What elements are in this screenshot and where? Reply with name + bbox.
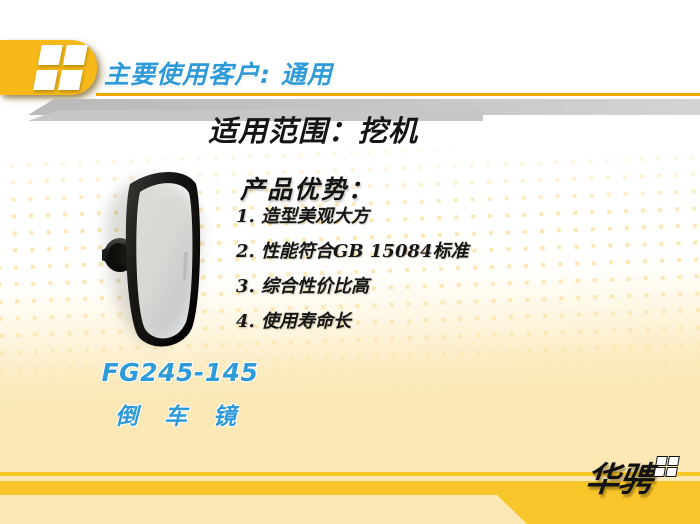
emblem-tiles-icon xyxy=(32,45,95,94)
emblem-tile-4 xyxy=(58,70,83,90)
product-code: FG245-145 xyxy=(80,358,280,387)
advantages-list: 1. 造型美观大方 2. 性能符合GB 15084标准 3. 综合性价比高 4.… xyxy=(236,206,566,346)
brand-tile-2 xyxy=(667,456,680,466)
emblem-tile-3 xyxy=(33,70,58,90)
brand-tile-3 xyxy=(653,467,666,477)
brand-tile-4 xyxy=(665,467,678,477)
emblem-tile-2 xyxy=(63,45,88,65)
list-item: 4. 使用寿命长 xyxy=(236,311,566,333)
product-name: 倒 车 镜 xyxy=(80,397,280,431)
brand-tiles-icon xyxy=(653,456,681,478)
page-title: 适用范围：挖机 xyxy=(208,108,418,150)
list-item: 3. 综合性价比高 xyxy=(236,276,566,298)
list-item: 1. 造型美观大方 xyxy=(236,206,566,228)
header-subtitle: 主要使用客户: 通用 xyxy=(104,55,333,91)
brand-logo-text: 华骋 xyxy=(583,452,698,501)
product-image xyxy=(96,160,221,355)
slide-root: 主要使用客户: 通用 适用范围：挖机 xyxy=(0,0,700,524)
header-yellow-rule xyxy=(96,93,700,96)
list-item: 2. 性能符合GB 15084标准 xyxy=(236,241,566,263)
emblem-tile-1 xyxy=(38,45,63,65)
brand-tile-1 xyxy=(655,456,668,466)
advantages-heading: 产品优势： xyxy=(240,170,375,206)
brand-logo: 华骋 xyxy=(586,448,696,510)
